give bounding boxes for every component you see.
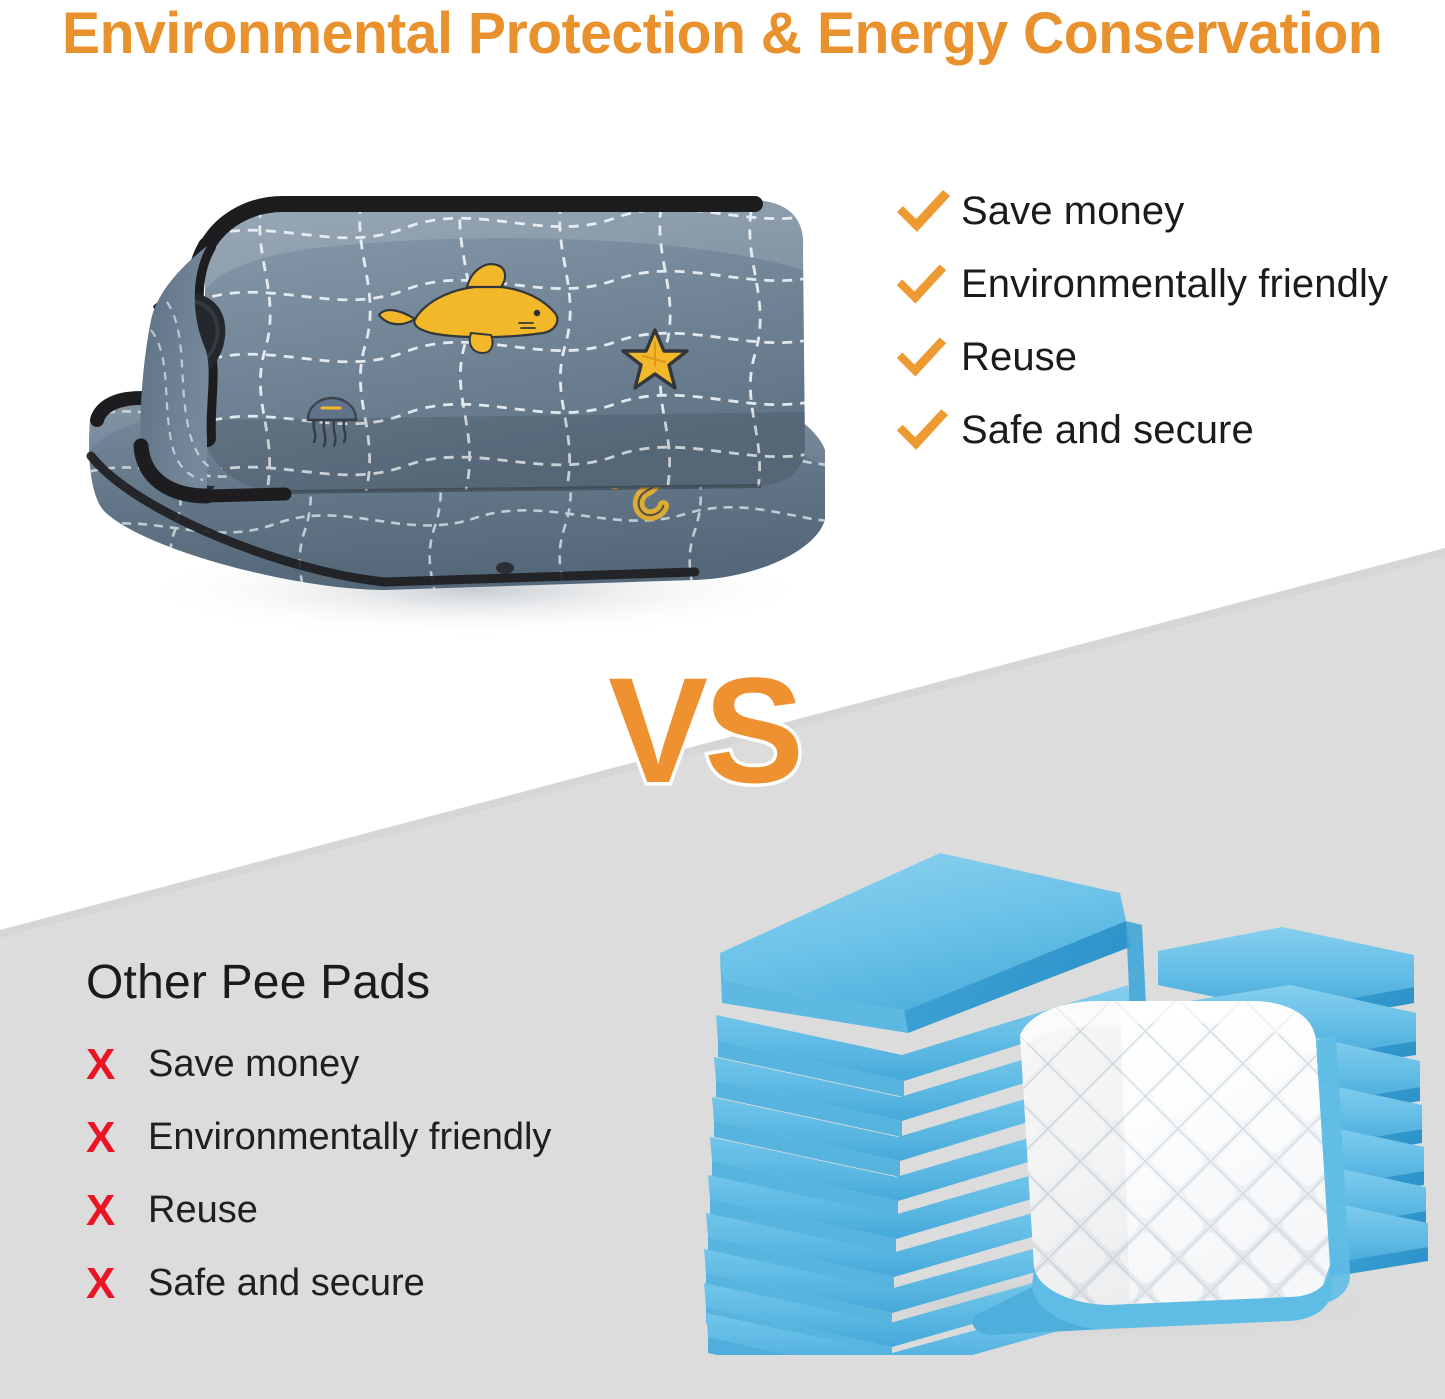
x-mark-icon: X	[86, 1189, 148, 1233]
con-label: Reuse	[148, 1189, 258, 1232]
check-icon	[893, 188, 961, 236]
product-image-reusable-pad	[55, 120, 855, 640]
con-label: Environmentally friendly	[148, 1116, 551, 1159]
x-mark-icon: X	[86, 1043, 148, 1087]
benefit-row: Safe and secure	[893, 394, 1433, 467]
x-mark-icon: X	[86, 1116, 148, 1160]
vs-label: VS	[608, 655, 800, 805]
con-row: X Safe and secure	[86, 1247, 706, 1320]
benefit-label: Reuse	[961, 335, 1077, 380]
benefit-row: Environmentally friendly	[893, 248, 1433, 321]
benefit-label: Environmentally friendly	[961, 262, 1388, 307]
benefit-label: Save money	[961, 189, 1184, 234]
benefits-list: Save money Environmentally friendly Reus…	[893, 175, 1433, 467]
con-label: Safe and secure	[148, 1262, 425, 1305]
x-mark-icon: X	[86, 1262, 148, 1306]
con-label: Save money	[148, 1043, 359, 1086]
other-pee-pads-block: Other Pee Pads X Save money X Environmen…	[86, 955, 706, 1320]
benefit-label: Safe and secure	[961, 408, 1254, 453]
product-image-disposable-pads	[690, 835, 1445, 1355]
con-row: X Environmentally friendly	[86, 1101, 706, 1174]
other-pee-pads-heading: Other Pee Pads	[86, 955, 706, 1010]
check-icon	[893, 262, 961, 308]
con-row: X Save money	[86, 1028, 706, 1101]
page-title: Environmental Protection & Energy Conser…	[62, 0, 1382, 67]
check-icon	[893, 407, 961, 454]
check-icon	[893, 335, 961, 381]
page-title-bar: Environmental Protection & Energy Conser…	[0, 0, 1445, 72]
benefit-row: Reuse	[893, 321, 1433, 394]
benefit-row: Save money	[893, 175, 1433, 248]
con-row: X Reuse	[86, 1174, 706, 1247]
